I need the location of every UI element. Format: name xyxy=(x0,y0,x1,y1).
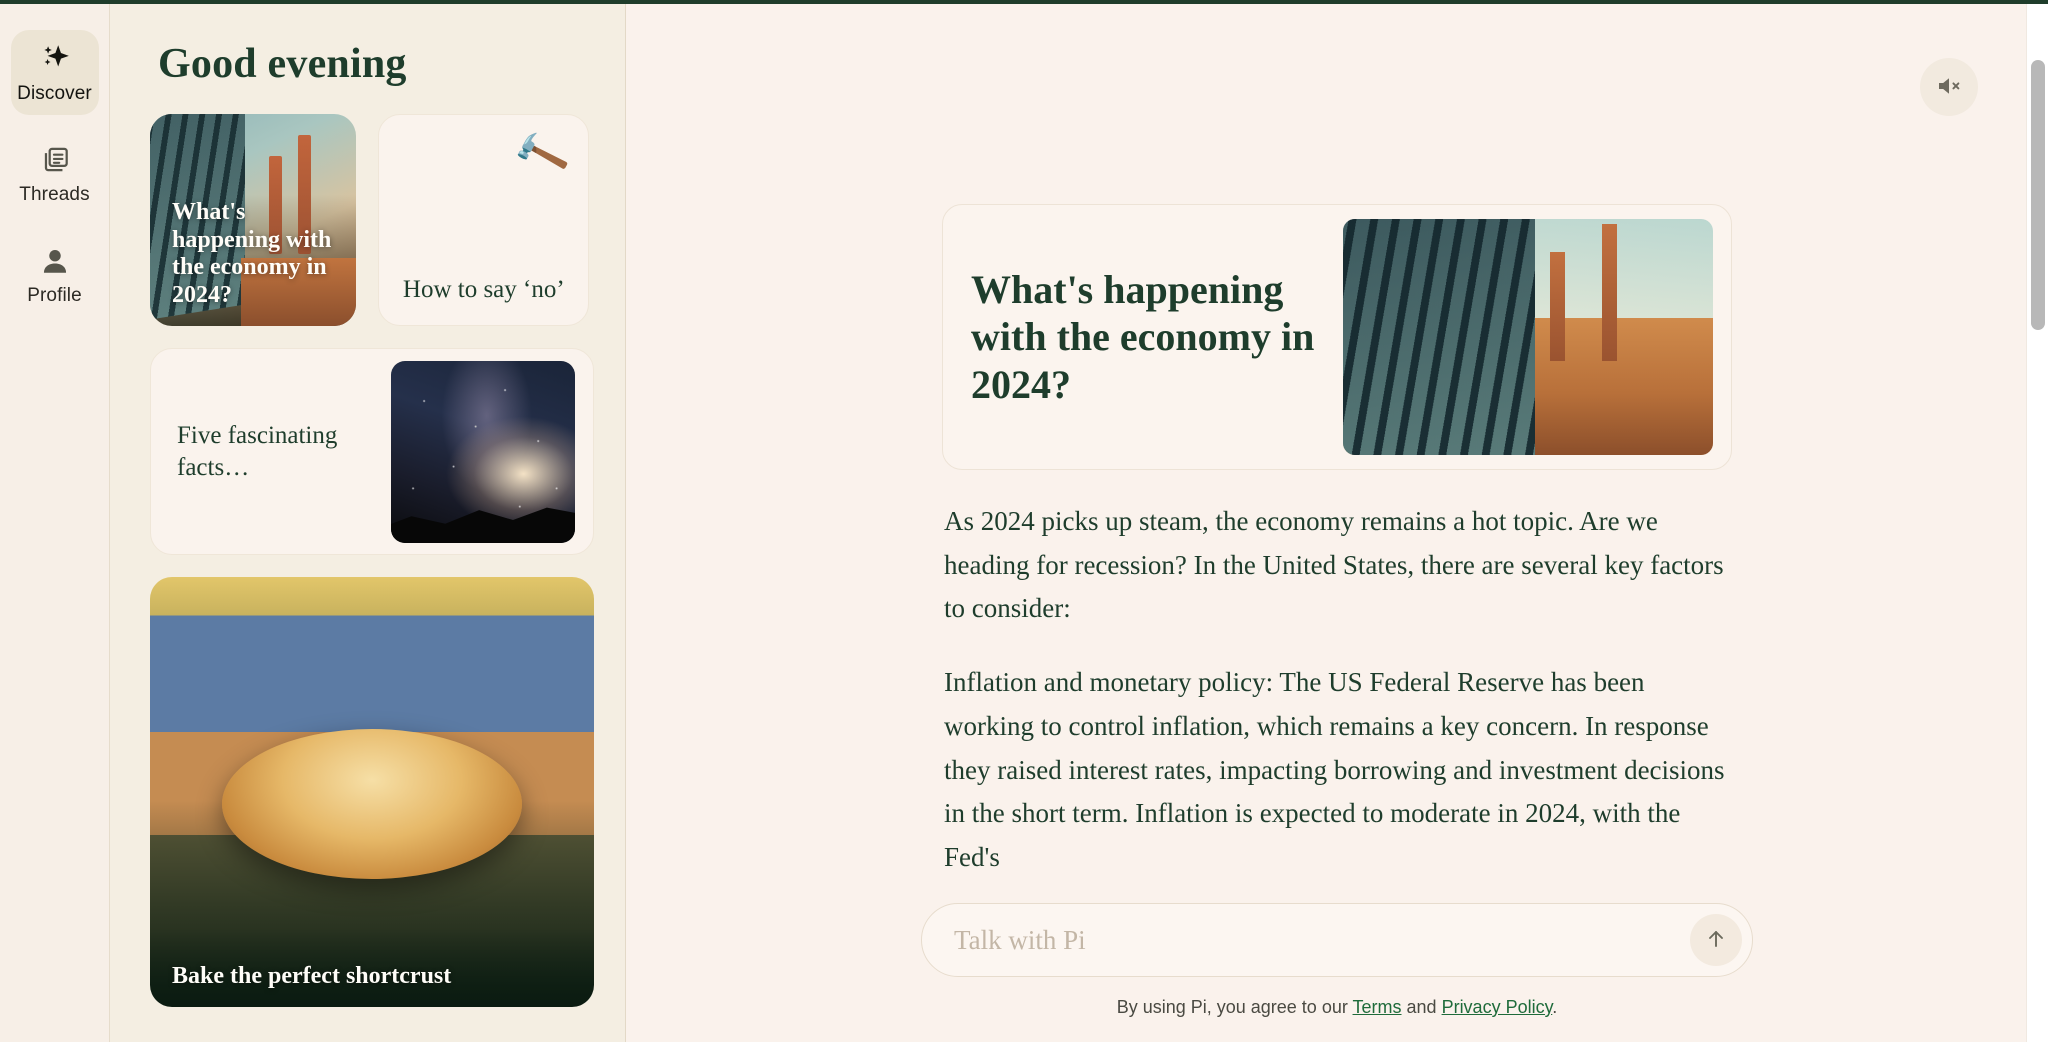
discover-card-economy[interactable]: What's happening with the economy in 202… xyxy=(150,114,356,326)
hammer-icon: 🔨 xyxy=(403,135,566,175)
factory-smokestacks-photo xyxy=(1343,219,1713,455)
person-icon xyxy=(38,244,72,278)
glass-facade xyxy=(1343,219,1535,455)
footnote-prefix: By using Pi, you agree to our xyxy=(1117,997,1353,1017)
conversation-thread: What's happening with the economy in 202… xyxy=(942,204,1732,880)
terms-link[interactable]: Terms xyxy=(1353,997,1402,1017)
sidebar-item-threads[interactable]: Threads xyxy=(11,131,99,216)
discover-card-shortcrust[interactable]: Bake the perfect shortcrust xyxy=(150,577,594,1007)
hero-title: What's happening with the economy in 202… xyxy=(961,266,1321,408)
sidebar-item-profile[interactable]: Profile xyxy=(11,232,99,317)
speaker-mute-icon xyxy=(1935,72,1963,103)
topic-hero-card[interactable]: What's happening with the economy in 202… xyxy=(942,204,1732,470)
sidebar-item-label: Discover xyxy=(17,83,92,105)
sidebar-item-label: Threads xyxy=(19,184,89,206)
privacy-policy-link[interactable]: Privacy Policy xyxy=(1442,997,1553,1017)
threads-icon xyxy=(38,143,72,177)
pie-crust xyxy=(222,729,522,879)
discover-card-say-no[interactable]: 🔨 How to say ‘no’ xyxy=(378,114,589,326)
message-paragraph: Inflation and monetary policy: The US Fe… xyxy=(942,661,1732,880)
footnote-suffix: . xyxy=(1552,997,1557,1017)
conversation-panel: What's happening with the economy in 202… xyxy=(626,4,2048,1042)
discover-card-title: Bake the perfect shortcrust xyxy=(172,963,578,991)
mute-button[interactable] xyxy=(1920,58,1978,116)
smokestack-right xyxy=(1602,224,1617,361)
discover-card-title: What's happening with the economy in 202… xyxy=(172,199,340,310)
send-button[interactable] xyxy=(1690,914,1742,966)
message-input[interactable] xyxy=(954,925,1690,956)
scrollbar-thumb[interactable] xyxy=(2031,60,2045,330)
message-paragraph: As 2024 picks up steam, the economy rema… xyxy=(942,500,1732,631)
page-title: Good evening xyxy=(158,40,589,88)
sparkle-icon xyxy=(38,42,72,76)
composer-area: By using Pi, you agree to our Terms and … xyxy=(626,869,2048,1042)
arrow-up-icon xyxy=(1704,927,1728,954)
footnote-middle: and xyxy=(1402,997,1442,1017)
discover-panel: Good evening What's happening with the e… xyxy=(110,4,626,1042)
smokestack-left xyxy=(1550,252,1565,361)
app-root: Discover Threads Profile Goo xyxy=(0,0,2048,1042)
sidebar-item-discover[interactable]: Discover xyxy=(11,30,99,115)
sidebar-item-label: Profile xyxy=(27,285,82,307)
page-scrollbar[interactable] xyxy=(2026,4,2048,1042)
primary-nav-rail: Discover Threads Profile xyxy=(0,4,110,1042)
milky-way-thumbnail xyxy=(391,361,575,543)
stars-layer xyxy=(391,361,575,543)
composer[interactable] xyxy=(921,903,1753,977)
legal-footnote: By using Pi, you agree to our Terms and … xyxy=(1117,997,1558,1018)
discover-card-title: Five fascinating facts… xyxy=(177,420,377,483)
discover-top-row: What's happening with the economy in 202… xyxy=(150,114,589,326)
discover-card-facts[interactable]: Five fascinating facts… xyxy=(150,348,594,555)
discover-card-title: How to say ‘no’ xyxy=(403,276,566,305)
